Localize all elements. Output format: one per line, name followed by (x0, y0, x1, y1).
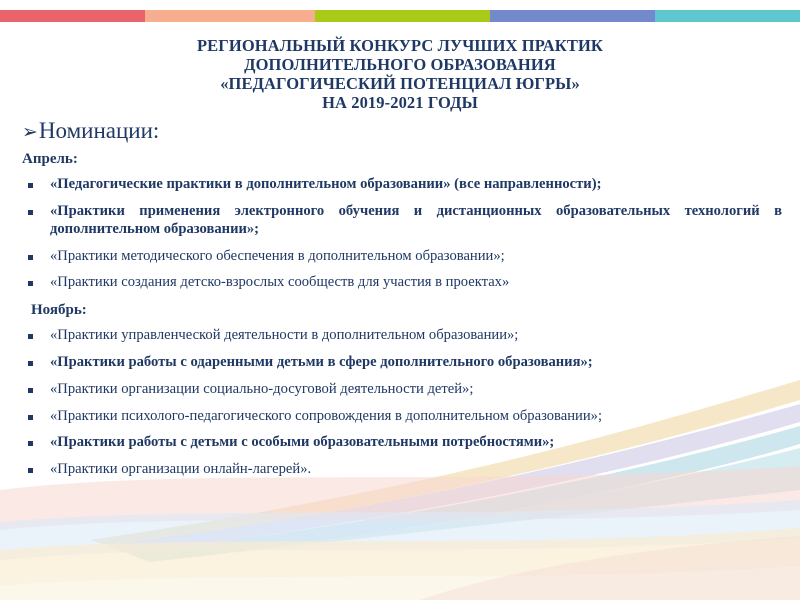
list-item: «Практики организации социально-досугово… (22, 381, 782, 399)
nomination-text: «Практики организации социально-досугово… (50, 381, 782, 399)
list-item: «Практики методического обеспечения в до… (22, 248, 782, 266)
list-item: «Практики работы с детьми с особыми обра… (22, 434, 782, 452)
list-item: «Практики создания детско-взрослых сообщ… (22, 274, 782, 292)
color-bar-segment-1 (0, 10, 145, 22)
nominations-heading: ➢ Номинации: (22, 118, 782, 143)
nomination-list-november: «Практики управленческой деятельности в … (22, 327, 782, 479)
nominations-label: Номинации: (39, 118, 159, 143)
nomination-text: «Педагогические практики в дополнительно… (50, 176, 782, 194)
list-item: «Педагогические практики в дополнительно… (22, 176, 782, 194)
nomination-text: «Практики применения электронного обучен… (50, 203, 782, 239)
section-april: Апрель: «Педагогические практики в допол… (22, 150, 782, 292)
list-item: «Практики работы с одаренными детьми в с… (22, 354, 782, 372)
color-bar-segment-3 (315, 10, 490, 22)
arrow-bullet-icon: ➢ (22, 123, 38, 142)
nomination-text: «Практики психолого-педагогического сопр… (50, 408, 782, 426)
list-item: «Практики психолого-педагогического сопр… (22, 408, 782, 426)
decorative-color-bar (0, 10, 800, 22)
nomination-text: «Практики организации онлайн-лагерей». (50, 461, 782, 479)
month-label-april: Апрель: (22, 150, 782, 168)
nomination-text: «Практики методического обеспечения в до… (50, 248, 782, 266)
section-november: Ноябрь: «Практики управленческой деятель… (22, 301, 782, 479)
month-label-november: Ноябрь: (31, 301, 782, 319)
slide-body: ➢ Номинации: Апрель: «Педагогические пра… (22, 118, 782, 488)
list-item: «Практики применения электронного обучен… (22, 203, 782, 239)
list-item: «Практики организации онлайн-лагерей». (22, 461, 782, 479)
nomination-text: «Практики работы с одаренными детьми в с… (50, 354, 782, 372)
title-line-4: НА 2019-2021 ГОДЫ (0, 93, 800, 112)
nomination-text: «Практики работы с детьми с особыми обра… (50, 434, 782, 452)
title-line-2: ДОПОЛНИТЕЛЬНОГО ОБРАЗОВАНИЯ (0, 55, 800, 74)
slide-title: РЕГИОНАЛЬНЫЙ КОНКУРС ЛУЧШИХ ПРАКТИК ДОПО… (0, 36, 800, 113)
nomination-list-april: «Педагогические практики в дополнительно… (22, 176, 782, 292)
nomination-text: «Практики управленческой деятельности в … (50, 327, 782, 345)
list-item: «Практики управленческой деятельности в … (22, 327, 782, 345)
title-line-1: РЕГИОНАЛЬНЫЙ КОНКУРС ЛУЧШИХ ПРАКТИК (0, 36, 800, 55)
nomination-text: «Практики создания детско-взрослых сообщ… (50, 274, 782, 292)
title-line-3: «ПЕДАГОГИЧЕСКИЙ ПОТЕНЦИАЛ ЮГРЫ» (0, 74, 800, 93)
color-bar-segment-5 (655, 10, 800, 22)
color-bar-segment-2 (145, 10, 315, 22)
slide-canvas: РЕГИОНАЛЬНЫЙ КОНКУРС ЛУЧШИХ ПРАКТИК ДОПО… (0, 0, 800, 600)
color-bar-segment-4 (490, 10, 655, 22)
